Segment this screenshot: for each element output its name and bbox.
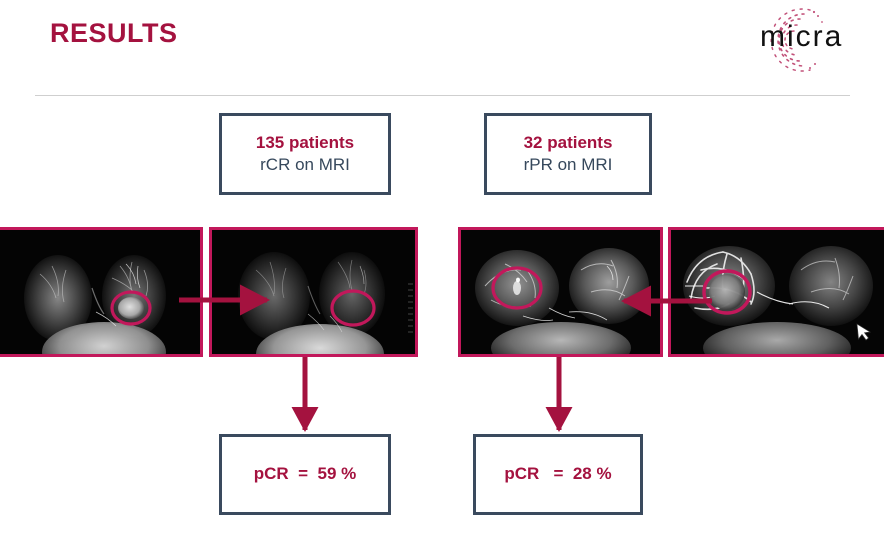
info-box-rcr: 135 patients rCR on MRI [219, 113, 391, 195]
mri-pre-treatment-rcr [0, 227, 203, 357]
mri-pre-treatment-rpr [668, 227, 884, 357]
header-divider [35, 95, 850, 96]
mri-scan-graphic [212, 230, 415, 354]
mri-scan-graphic [0, 230, 200, 354]
pcr-value-rcr: pCR = 59 % [254, 463, 357, 485]
info-box-rpr: 32 patients rPR on MRI [484, 113, 652, 195]
mri-post-treatment-rpr [458, 227, 663, 357]
rcr-patient-count: 135 patients [256, 132, 354, 154]
mri-scan-graphic [461, 230, 660, 354]
micra-logo: micra [752, 6, 876, 72]
mri-scan-graphic [671, 230, 884, 354]
logo-wordmark: micra [760, 20, 843, 54]
page-title: RESULTS [50, 18, 178, 49]
pcr-value-rpr: pCR = 28 % [504, 463, 611, 485]
result-box-pcr-rcr: pCR = 59 % [219, 434, 391, 515]
rpr-response-label: rPR on MRI [524, 154, 613, 176]
result-box-pcr-rpr: pCR = 28 % [473, 434, 643, 515]
rpr-patient-count: 32 patients [524, 132, 613, 154]
rcr-response-label: rCR on MRI [260, 154, 350, 176]
mri-post-treatment-rcr [209, 227, 418, 357]
